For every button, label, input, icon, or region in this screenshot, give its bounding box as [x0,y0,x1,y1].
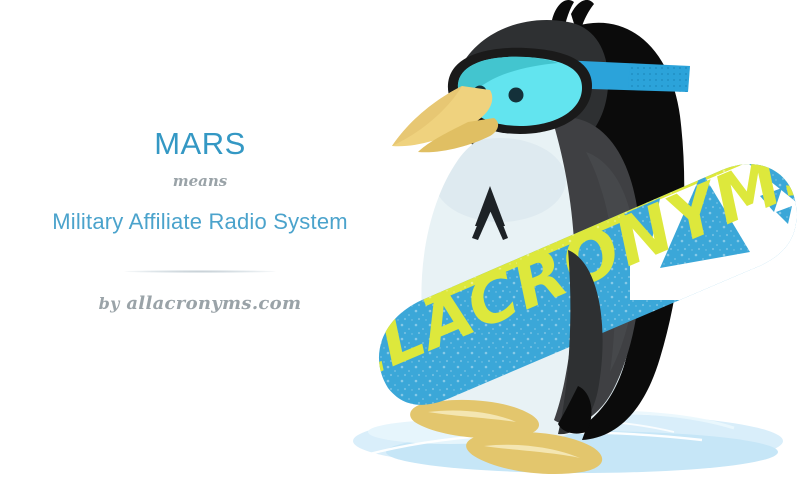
acronym-definition: Military Affiliate Radio System [50,207,350,236]
byline: by allacronyms.com [99,295,302,313]
acronym-title: MARS [154,128,246,159]
byline-prefix: by [99,294,120,313]
divider-rule [124,270,276,273]
acronym-card: MARS means Military Affiliate Radio Syst… [0,0,801,477]
byline-site: allacronyms.com [126,293,301,314]
penguin-illustration: ALLACRONYMS [330,0,801,477]
means-connector-label: means [173,174,228,189]
